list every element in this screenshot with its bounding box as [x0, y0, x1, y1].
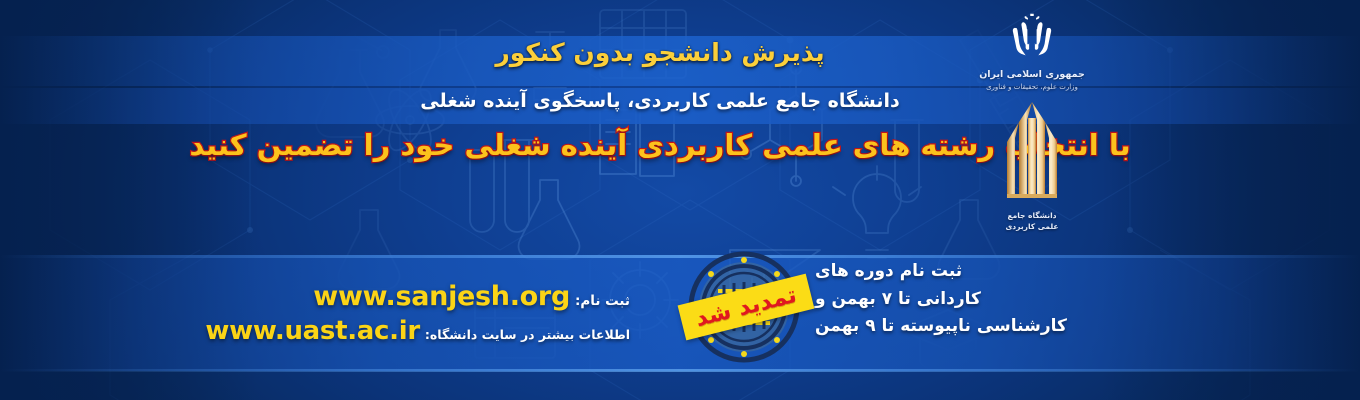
deadline-line-2: کاردانی تا ۷ بهمن و [815, 286, 1070, 314]
band-bottom-bottom-edge [0, 369, 1360, 372]
emblem-ministry-caption: وزارت علوم، تحقیقات و فناوری [986, 83, 1078, 91]
link-row-more-info[interactable]: اطلاعات بیشتر در سایت دانشگاه: www.uast.… [318, 316, 630, 346]
uast-logo-caption: دانشگاه جامع علمی کاربردی [1005, 211, 1058, 233]
extended-seal-stamp: تمدید شد [688, 251, 800, 363]
headline-primary: پذیرش دانشجو بدون کنکور [0, 38, 1360, 67]
link-url-sanjesh[interactable]: www.sanjesh.org [313, 281, 570, 312]
registration-deadline-block: ثبت نام دوره های کاردانی تا ۷ بهمن و کار… [815, 258, 1070, 341]
link-label-registration: ثبت نام: [575, 293, 630, 309]
deadline-line-3: کارشناسی ناپیوسته تا ۹ بهمن [815, 313, 1070, 341]
uast-caption-line2: علمی کاربردی [1005, 222, 1058, 233]
links-block: ثبت نام: www.sanjesh.org اطلاعات بیشتر د… [318, 281, 630, 350]
emblem-country-caption: جمهوری اسلامی ایران [979, 69, 1085, 80]
headline-secondary: دانشگاه جامع علمی کاربردی، پاسخگوی آینده… [0, 90, 1360, 112]
link-label-more-info: اطلاعات بیشتر در سایت دانشگاه: [425, 327, 630, 342]
emblem-column: جمهوری اسلامی ایران وزارت علوم، تحقیقات … [972, 4, 1092, 254]
link-row-registration[interactable]: ثبت نام: www.sanjesh.org [318, 281, 630, 312]
uast-caption-line1: دانشگاه جامع [1005, 211, 1058, 222]
link-url-uast[interactable]: www.uast.ac.ir [205, 316, 419, 346]
uast-tower-logo-icon [995, 100, 1069, 208]
band-bottom-top-edge [0, 255, 1360, 258]
deadline-line-1: ثبت نام دوره های [815, 258, 1070, 286]
iran-national-emblem-icon [1003, 12, 1061, 64]
headline-call-to-action: با انتخاب رشته های علمی کاربردی آینده شغ… [0, 128, 1360, 162]
uast-admission-banner: پذیرش دانشجو بدون کنکور دانشگاه جامع علم… [0, 0, 1360, 400]
